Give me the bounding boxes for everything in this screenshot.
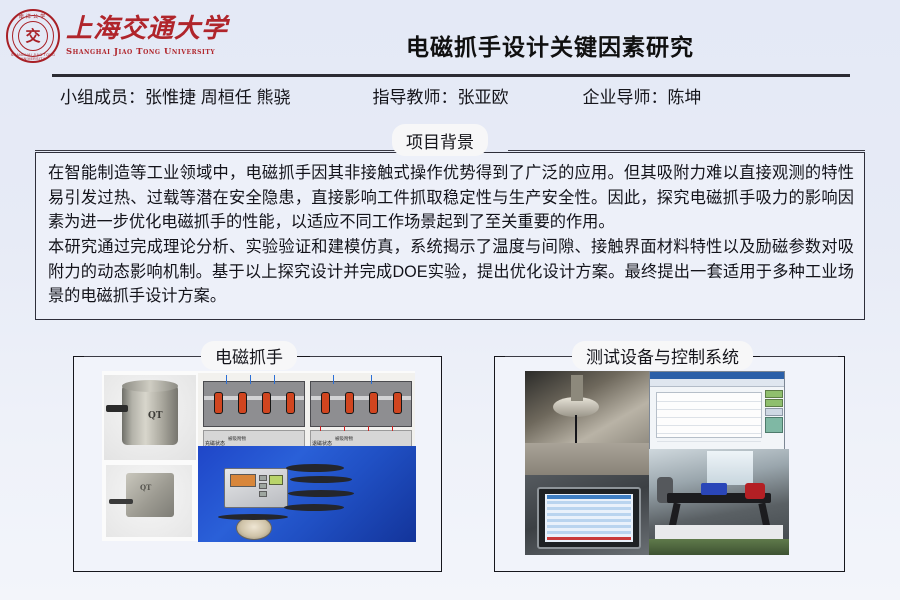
photo-vibration-test-table — [649, 449, 789, 555]
logo-name-en: Shanghai Jiao Tong University — [66, 46, 228, 56]
slide-header: 南洋公学 交 SHANGHAI JIAO TONG UNIVERSITY 上海交… — [0, 0, 900, 72]
section-label-background: 项目背景 — [392, 124, 488, 156]
background-label-rule-right — [508, 150, 865, 151]
photo-daq-software-screen — [649, 371, 785, 453]
university-seal-icon: 南洋公学 交 SHANGHAI JIAO TONG UNIVERSITY — [6, 9, 60, 63]
section-label-gripper: 电磁抓手 — [201, 341, 297, 370]
photo-hmi-touch-panel — [525, 475, 649, 555]
equipment-label-rule-left — [505, 356, 573, 357]
sjtu-logo: 南洋公学 交 SHANGHAI JIAO TONG UNIVERSITY 上海交… — [6, 6, 242, 66]
byline-members: 小组成员：张惟捷 周桓任 熊骁 — [60, 83, 290, 108]
background-paragraph-2: 本研究通过完成理论分析、实验验证和建模仿真，系统揭示了温度与间隙、接触界面材料特… — [48, 235, 854, 309]
equipment-label-rule-right — [760, 356, 838, 357]
header-divider — [52, 74, 850, 77]
byline-advisor: 指导教师：张亚欧 — [372, 83, 508, 108]
byline-industry-mentor: 企业导师：陈坤 — [582, 83, 701, 108]
photo-s-type-load-cell: QT — [106, 465, 192, 537]
page-title: 电磁抓手设计关键因素研究 — [240, 28, 860, 62]
background-paragraph-1: 在智能制造等工业领域中，电磁抓手因其非接触式操作优势得到了广泛的应用。但其吸附力… — [48, 161, 854, 235]
presentation-slide: 南洋公学 交 SHANGHAI JIAO TONG UNIVERSITY 上海交… — [0, 0, 900, 600]
byline: 小组成员：张惟捷 周桓任 熊骁 指导教师：张亚欧 企业导师：陈坤 — [52, 80, 852, 110]
photo-cylindrical-load-cell: QT — [104, 375, 196, 460]
photo-test-rig — [525, 371, 649, 485]
equipment-image-panel — [494, 356, 845, 572]
background-label-rule-left — [35, 150, 395, 151]
gripper-label-rule-left — [84, 356, 202, 357]
gripper-label-rule-right — [310, 356, 430, 357]
diagram-caption-adsorbed-a: 被吸附物 — [228, 436, 246, 442]
diagram-caption-adsorbed-b: 被吸附物 — [335, 436, 353, 442]
section-label-equipment: 测试设备与控制系统 — [572, 341, 753, 370]
logo-name-cn: 上海交通大学 — [66, 16, 228, 43]
photo-controller-toolbox — [198, 446, 416, 542]
seal-center-glyph: 交 — [25, 29, 40, 44]
gripper-image-panel: QT QT — [73, 356, 442, 572]
background-text-box: 在智能制造等工业领域中，电磁抓手因其非接触式操作优势得到了广泛的应用。但其吸附力… — [35, 152, 865, 320]
seal-bottom-text: SHANGHAI JIAO TONG UNIVERSITY — [6, 53, 60, 61]
photo-working-principle-diagram: 被吸附物 被吸附物 充磁状态 退磁状态 — [198, 373, 415, 448]
seal-top-text: 南洋公学 — [6, 13, 60, 20]
